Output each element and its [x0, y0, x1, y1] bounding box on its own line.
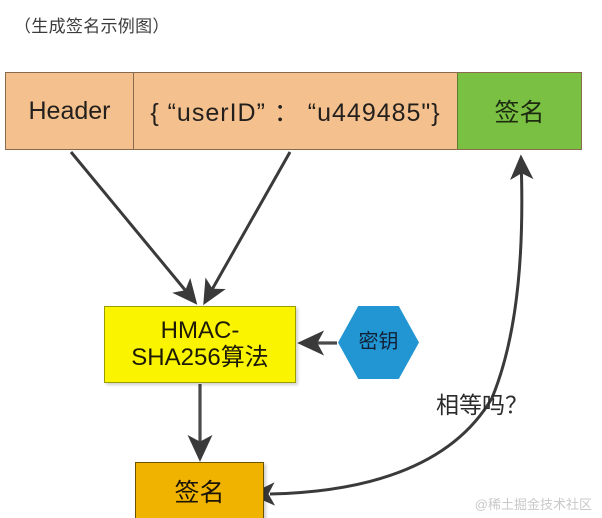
- token-segment-payload: { “userID” ： “u449485"}: [134, 73, 458, 149]
- watermark: @稀土掘金技术社区: [475, 494, 592, 513]
- token-segment-header: Header: [6, 73, 134, 149]
- jwt-token-bar: Header { “userID” ： “u449485"} 签名: [5, 72, 582, 150]
- algorithm-label-line1: HMAC-: [161, 318, 240, 345]
- edge-header-to-algorithm: [71, 152, 195, 302]
- algorithm-label-line2: SHA256算法: [131, 345, 268, 372]
- diagram-canvas: （生成签名示例图） Header { “userID” ： “u449485"}: [0, 0, 602, 518]
- edge-payload-to-algorithm: [205, 152, 290, 302]
- node-hmac-sha256-algorithm: HMAC- SHA256算法: [104, 306, 296, 383]
- compare-question-label: 相等吗？: [436, 386, 528, 420]
- node-secret-key: 密钥: [338, 306, 419, 379]
- diagram-caption: （生成签名示例图）: [14, 12, 170, 37]
- token-segment-signature: 签名: [458, 73, 581, 149]
- node-generated-signature: 签名: [135, 462, 264, 518]
